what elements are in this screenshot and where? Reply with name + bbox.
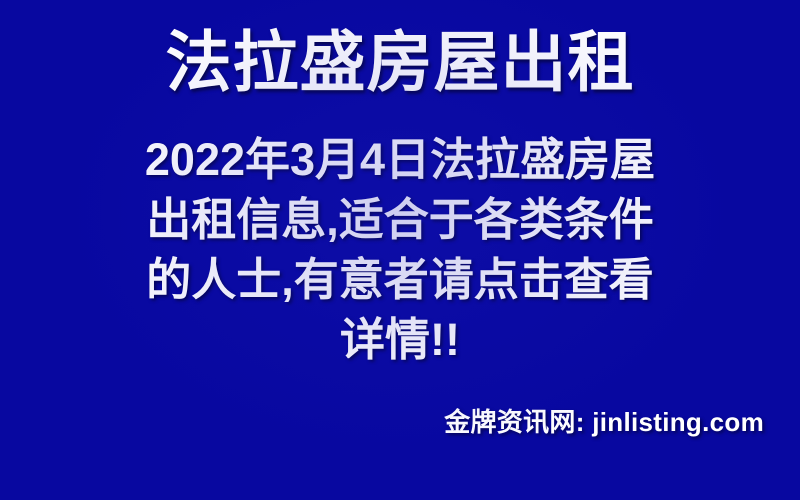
body-line-2: 出租信息,适合于各类条件 — [60, 190, 740, 250]
page-title: 法拉盛房屋出租 — [0, 24, 800, 101]
footer-label: 金牌资讯网: — [444, 407, 584, 437]
body-line-3: 的人士,有意者请点击查看 — [60, 250, 740, 310]
poster-canvas: 法拉盛房屋出租 2022年3月4日法拉盛房屋 出租信息,适合于各类条件 的人士,… — [0, 0, 800, 500]
body-line-4: 详情!! — [60, 310, 740, 370]
body-text-block: 2022年3月4日法拉盛房屋 出租信息,适合于各类条件 的人士,有意者请点击查看… — [60, 130, 740, 370]
footer-website: jinlisting.com — [592, 407, 764, 437]
body-line-1: 2022年3月4日法拉盛房屋 — [60, 130, 740, 190]
footer-attribution: 金牌资讯网: jinlisting.com — [444, 402, 764, 439]
